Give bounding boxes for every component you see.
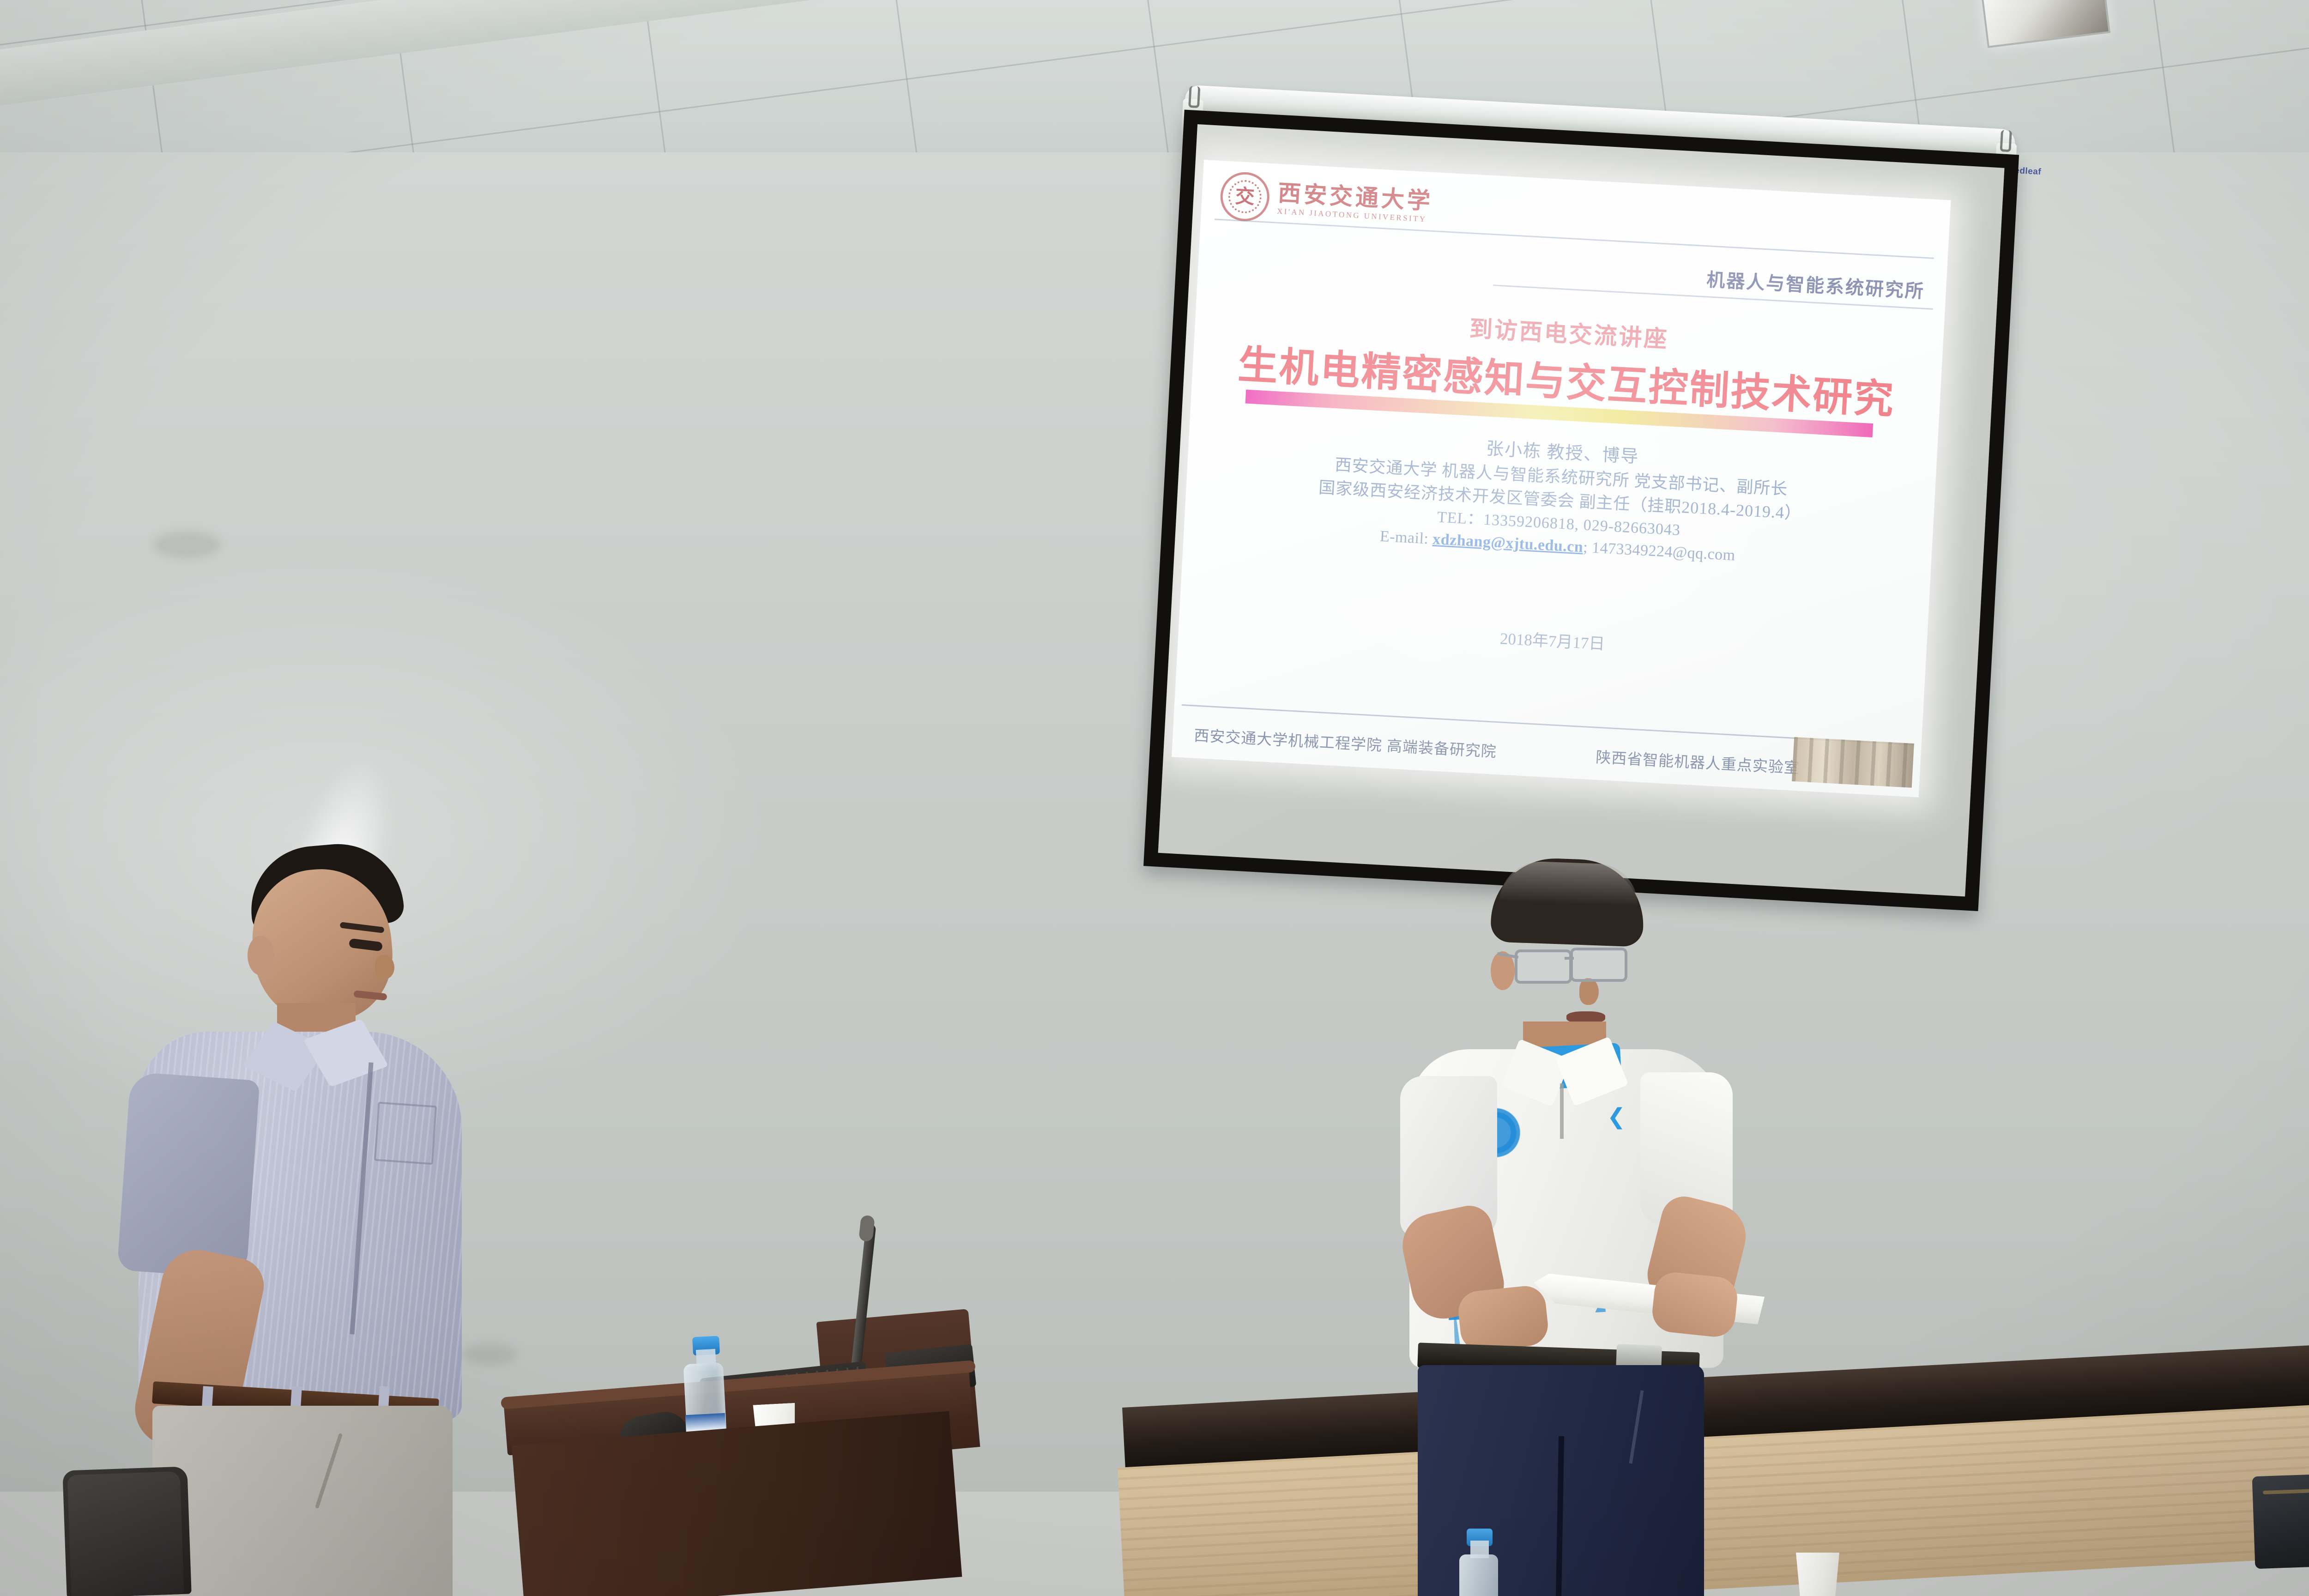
- screen-frame: 交 西安交通大学 XI'AN JIAOTONG UNIVERSITY 机器人与智…: [1143, 109, 2019, 911]
- footer-photo-strip: [1792, 737, 1914, 788]
- footer-right-text: 陕西省智能机器人重点实验室: [1595, 745, 1800, 778]
- seal-glyph: 交: [1235, 187, 1255, 207]
- presenter-block: 张小栋 教授、博导 西安交通大学 机器人与智能系统研究所 党支部书记、副所长 国…: [1184, 421, 1937, 577]
- sleeve: [117, 1072, 260, 1279]
- ear: [248, 936, 274, 975]
- university-logo: 交 西安交通大学 XI'AN JIAOTONG UNIVERSITY: [1219, 171, 1434, 231]
- slide-date: 2018年7月17日: [1179, 608, 1927, 672]
- nose: [1579, 978, 1599, 1005]
- projected-slide: 交 西安交通大学 XI'AN JIAOTONG UNIVERSITY 机器人与智…: [1172, 160, 1951, 798]
- chair[interactable]: [62, 1466, 191, 1596]
- hand-left: [1457, 1284, 1550, 1353]
- water-bottle-table[interactable]: [1459, 1554, 1498, 1596]
- photo-scene: Redleaf 交 西安交通大学 XI'AN JIAOTONG UNIVERSI…: [0, 0, 2309, 1596]
- shirt-pocket: [374, 1102, 437, 1165]
- glasses-bridge: [1565, 957, 1574, 960]
- screen-surface: 交 西安交通大学 XI'AN JIAOTONG UNIVERSITY 机器人与智…: [1158, 124, 2005, 896]
- person-speaker-right: ❮: [1376, 859, 1773, 1596]
- wall-smudge: [152, 531, 222, 559]
- university-seal-icon: 交: [1219, 171, 1271, 223]
- tel-label: TEL：: [1437, 508, 1484, 528]
- hair-highlight: [1499, 860, 1639, 907]
- lectern[interactable]: [503, 1376, 970, 1596]
- screen-mount-hook-left: [1188, 86, 1201, 108]
- glasses-lens-right: [1570, 948, 1627, 982]
- header-divider: [1215, 218, 1934, 259]
- glasses-lens-left: [1515, 949, 1572, 984]
- projection-screen-unit: Redleaf 交 西安交通大学 XI'AN JIAOTONG UNIVERSI…: [1127, 65, 2063, 957]
- hand-right: [1650, 1270, 1740, 1339]
- footer-left-text: 西安交通大学机械工程学院 高端装备研究院: [1193, 723, 1497, 762]
- logo-text-block: 西安交通大学 XI'AN JIAOTONG UNIVERSITY: [1277, 181, 1434, 224]
- trousers: [152, 1406, 453, 1596]
- email-label: E-mail:: [1379, 527, 1433, 547]
- screen-mount-hook-right: [2000, 130, 2012, 152]
- nose: [375, 955, 394, 979]
- slide-header: 交 西安交通大学 XI'AN JIAOTONG UNIVERSITY: [1201, 160, 1951, 259]
- polo-brand-icon: ❮: [1607, 1106, 1634, 1130]
- paper-cup-table[interactable]: [1792, 1553, 1844, 1596]
